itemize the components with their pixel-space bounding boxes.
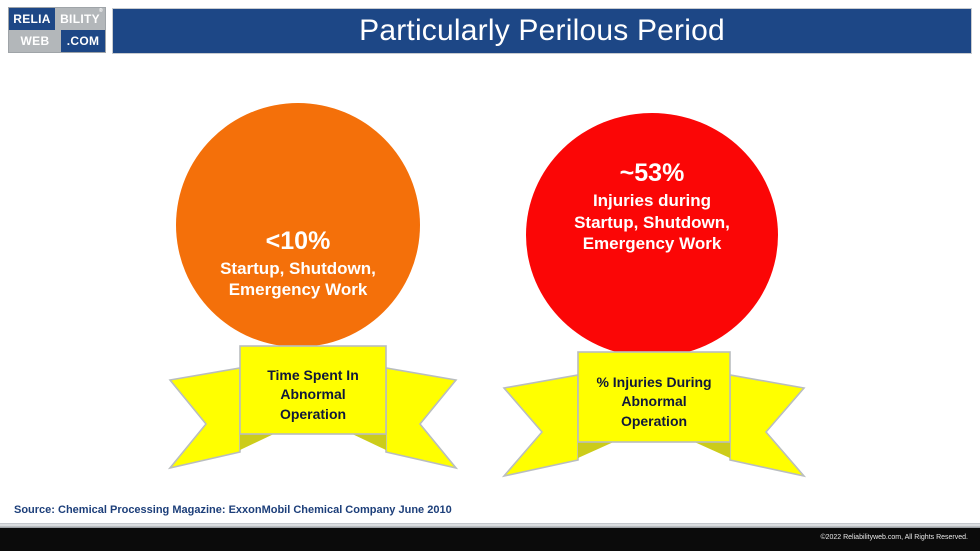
orange-circle-line2: Emergency Work [220, 279, 376, 301]
logo-text-web: WEB [9, 30, 61, 52]
ribbon-left-label: Time Spent In Abnormal Operation [168, 366, 458, 424]
logo-row-top: RELIA BILITY ® [9, 8, 105, 30]
yellow-ribbon-left: Time Spent In Abnormal Operation [168, 344, 458, 476]
red-circle-headline: ~53% [574, 159, 730, 188]
slide-canvas: RELIA BILITY ® WEB .COM Particularly Per… [0, 0, 980, 551]
ribbon-left-line3: Operation [168, 405, 458, 424]
red-circle-text: ~53% Injuries during Startup, Shutdown, … [574, 159, 730, 311]
red-circle-line3: Emergency Work [574, 233, 730, 255]
ribbon-left-line2: Abnormal [168, 385, 458, 404]
red-circle-line1: Injuries during [574, 190, 730, 212]
source-citation: Source: Chemical Processing Magazine: Ex… [14, 504, 452, 516]
orange-circle-line1: Startup, Shutdown, [220, 258, 376, 280]
logo-text-relia: RELIA [9, 8, 55, 30]
ribbon-right-line1: % Injuries During [502, 373, 806, 392]
logo-row-bottom: WEB .COM [9, 30, 105, 52]
page-title: Particularly Perilous Period [359, 14, 725, 48]
logo-bility-label: BILITY [60, 13, 100, 25]
ribbon-left-line1: Time Spent In [168, 366, 458, 385]
ribbon-right-line2: Abnormal [502, 392, 806, 411]
orange-circle-text: <10% Startup, Shutdown, Emergency Work [220, 149, 376, 301]
title-bar: Particularly Perilous Period [112, 8, 972, 54]
registered-trademark-icon: ® [99, 9, 103, 14]
orange-circle: <10% Startup, Shutdown, Emergency Work [176, 103, 420, 347]
red-circle-line2: Startup, Shutdown, [574, 212, 730, 234]
reliabilityweb-logo[interactable]: RELIA BILITY ® WEB .COM [8, 7, 106, 53]
orange-circle-headline: <10% [220, 227, 376, 256]
logo-text-com: .COM [61, 30, 105, 52]
ribbon-right-label: % Injuries During Abnormal Operation [502, 373, 806, 431]
copyright-notice: ©2022 Reliabilityweb.com, All Rights Res… [820, 534, 968, 541]
yellow-ribbon-right: % Injuries During Abnormal Operation [502, 350, 806, 484]
red-circle: ~53% Injuries during Startup, Shutdown, … [526, 113, 778, 357]
logo-text-bility: BILITY ® [55, 8, 105, 30]
ribbon-right-line3: Operation [502, 412, 806, 431]
